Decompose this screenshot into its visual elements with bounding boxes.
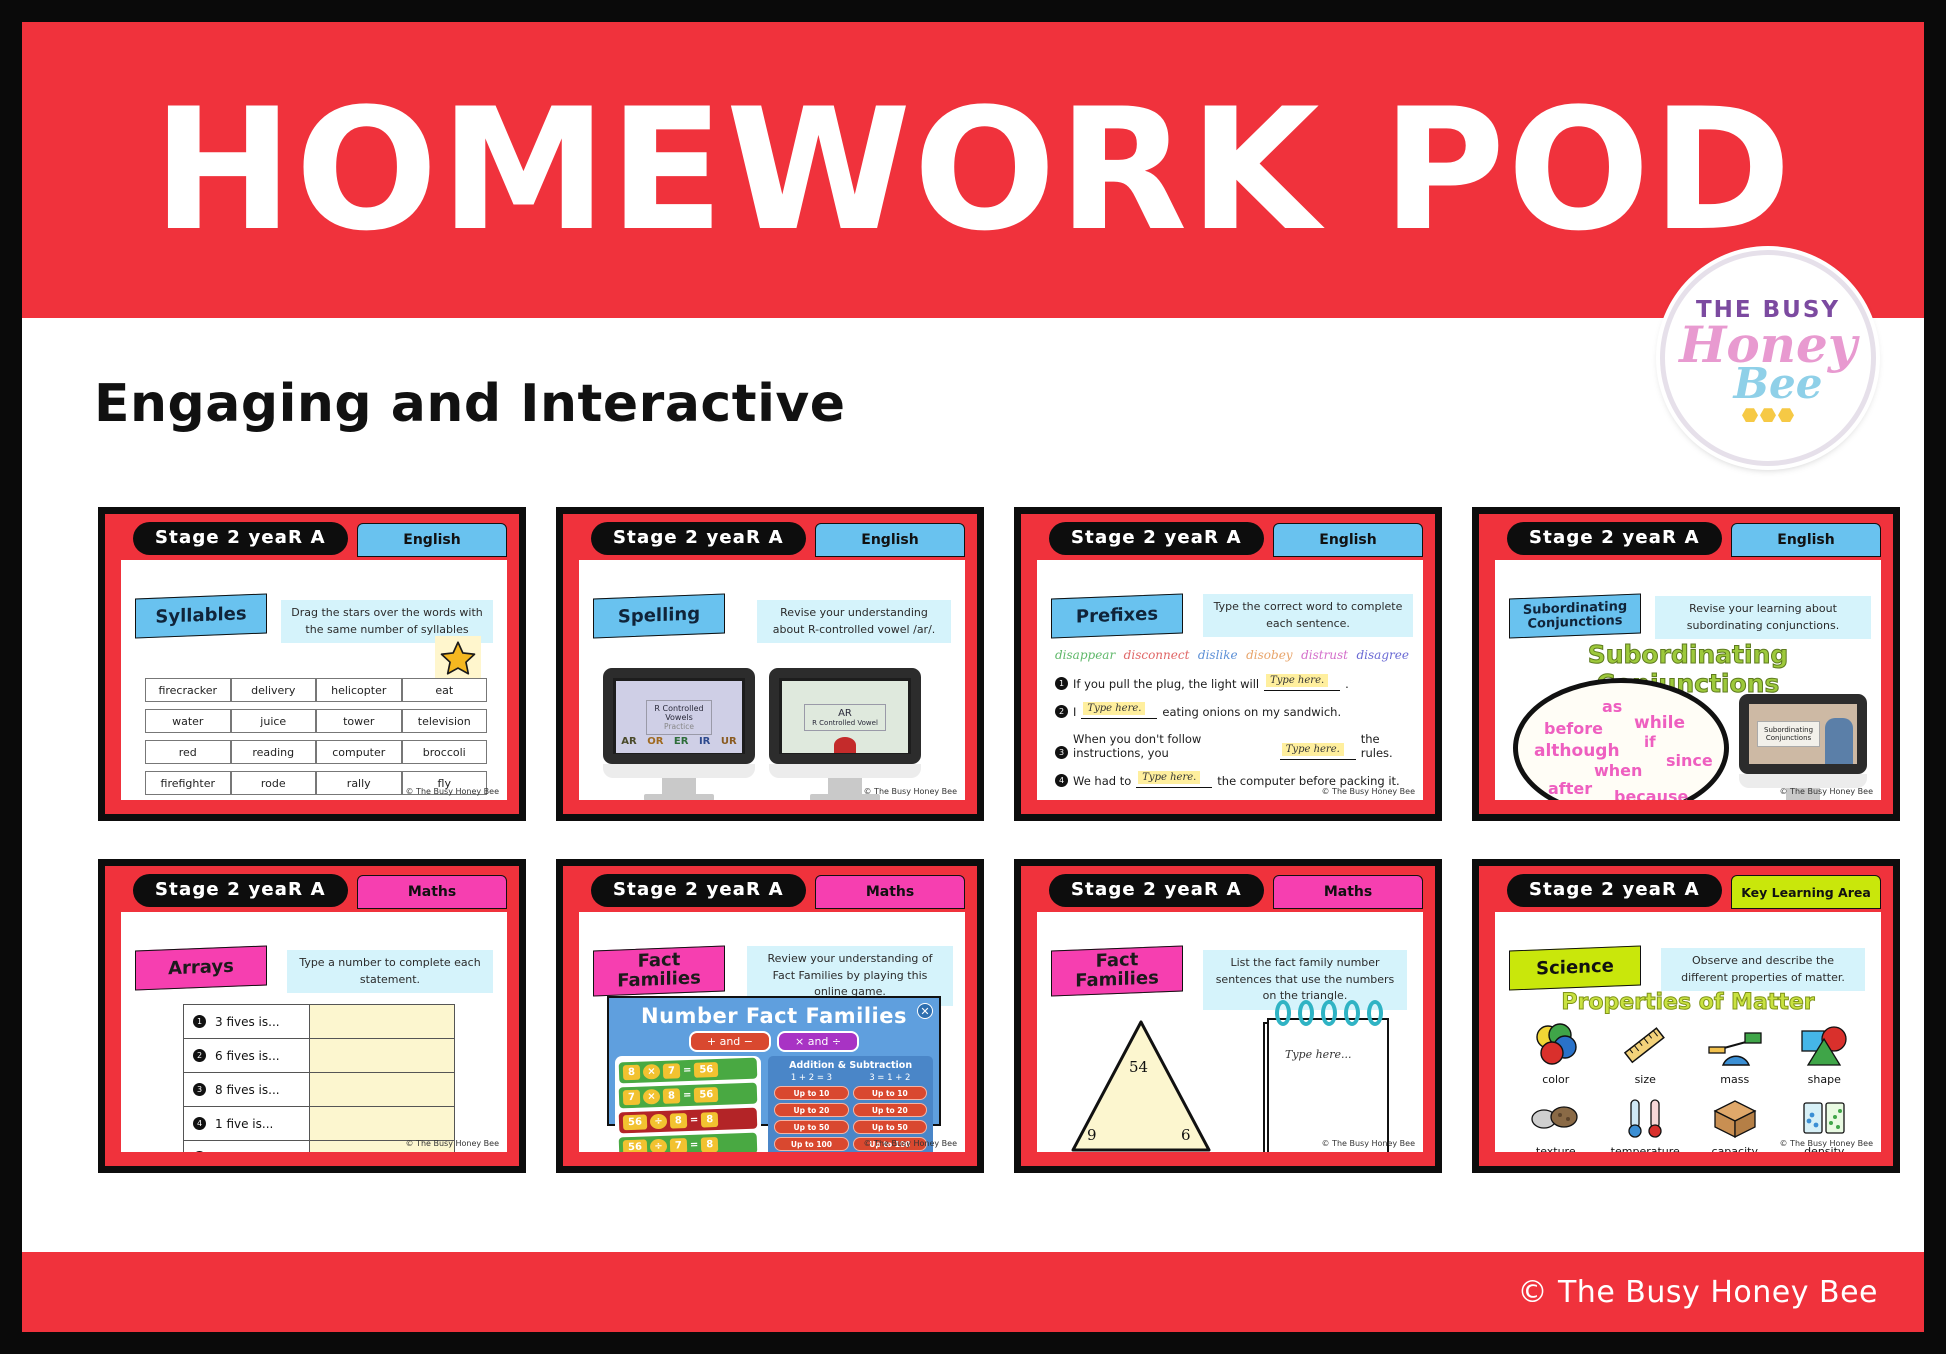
credit-text: © The Busy Honey Bee [864,1139,957,1148]
monitor-neck [603,764,755,778]
statement-cell: 2 6 fives is... [184,1039,310,1072]
table-row: 4 1 five is... [184,1107,454,1141]
video-title-line2: R Controlled Vowel [812,719,878,727]
triangle-left-number: 9 [1087,1126,1097,1144]
conjunction-word: after [1548,779,1592,798]
sentence-row: 4 We had to Type here. the computer befo… [1055,773,1409,788]
equation-operand: 7 [663,1063,681,1079]
sentence-row: 2 I Type here. eating onions on my sandw… [1055,704,1409,719]
texture-rocks-icon [1511,1092,1601,1144]
equals-sign: = [690,1140,699,1151]
credit-text: © The Busy Honey Bee [864,787,957,796]
table-row: 1 3 fives is... [184,1005,454,1039]
type-here-label: Type here. [1083,702,1145,715]
equals-sign: = [683,1065,692,1076]
mode-button-add-subtract[interactable]: + and − [689,1031,771,1052]
range-column-left: 1 + 2 = 3 Up to 10 Up to 20 Up to 50 Up … [772,1071,850,1152]
property-label: color [1511,1073,1601,1086]
range-button[interactable]: Up to 20 [774,1103,848,1117]
statement-text: 10 fives is... [215,1151,287,1152]
instruction-text: Revise your learning about subordinating… [1655,596,1871,639]
sentence-before: When you don't follow instructions, you [1073,732,1275,760]
range-panel: Addition & Subtraction 1 + 2 = 3 Up to 1… [768,1056,933,1152]
word-cell[interactable]: delivery [231,678,317,702]
monitor-stand [828,778,862,794]
sentence-before: We had to [1073,774,1131,788]
equation-operand: 8 [670,1113,688,1129]
kla-tab-english: English [1731,523,1881,557]
brand-logo: THE BUSY Honey Bee [1660,250,1876,466]
conjunction-word: if [1644,733,1656,751]
honeycomb-icon [1741,408,1795,427]
card-body: Syllables Drag the stars over the words … [121,560,507,800]
notepad-spiral-icon [1275,1000,1383,1026]
word-cell[interactable]: helicopter [316,678,402,702]
monitor-neck [769,764,921,778]
video-thumbnail: AR R Controlled Vowel AR (R Controlled V… [779,678,911,754]
instruction-text: Observe and describe the different prope… [1661,948,1865,991]
sentence-after: the computer before packing it. [1217,774,1399,788]
stage-pill: Stage 2 yeaR A [591,874,806,907]
stage-pill: Stage 2 yeaR A [1049,522,1264,555]
online-game-window[interactable]: ✕ Number Fact Families + and − × and ÷ 8… [607,996,941,1126]
property-label: texture [1511,1145,1601,1152]
credit-text: © The Busy Honey Bee [1780,1139,1873,1148]
topic-tag: Spelling [593,593,725,638]
credit-text: © The Busy Honey Bee [406,787,499,796]
video-title-box: R Controlled Vowels Practice [646,700,711,735]
card-grid: Stage 2 yeaR A English Syllables Drag th… [98,507,1898,1173]
monitor-stand [662,778,696,794]
kla-tab-english: English [357,523,507,557]
card-science[interactable]: Stage 2 yeaR A Key Learning Area Science… [1472,859,1900,1173]
video-title-line2: Conjunctions [1764,734,1813,742]
thermometer-icon [1601,1092,1691,1144]
table-row: 2 6 fives is... [184,1039,454,1073]
card-body: Arrays Type a number to complete each st… [121,912,507,1152]
stage-pill: Stage 2 yeaR A [133,522,348,555]
game-title: Number Fact Families [615,1004,933,1028]
video-monitor[interactable]: Subordinating Conjunctions [1739,694,1867,800]
vowel-er: ER [674,736,689,747]
word-cell[interactable]: firecracker [145,678,231,702]
column-heading: 1 + 2 = 3 [772,1073,850,1083]
penguin-icon [834,737,856,753]
property-shape: shape [1780,1020,1870,1086]
video-thumbnail: R Controlled Vowels Practice AR OR ER IR [613,678,745,754]
equation-operand: 7 [670,1138,688,1152]
card-fact-families-game[interactable]: Stage 2 yeaR A Maths Fact Families Revie… [556,859,984,1173]
conjunction-word: although [1534,741,1620,761]
conjunction-word: while [1634,713,1685,733]
kla-tab-english: English [1273,523,1423,557]
equation-row: 8 × 7 = 56 [619,1058,758,1084]
triangle-top-number: 54 [1129,1058,1148,1076]
column-heading: 3 = 1 + 2 [851,1073,929,1083]
answer-input[interactable] [310,1005,454,1038]
equation-row: 56 ÷ 7 = 8 [619,1133,758,1152]
range-button[interactable]: Up to 50 [853,1120,927,1134]
card-prefixes[interactable]: Stage 2 yeaR A English Prefixes Type the… [1014,507,1442,821]
game-mode-buttons: + and − × and ÷ [615,1031,933,1052]
table-row: firecracker delivery helicopter eat [145,678,487,702]
sentence-after: eating onions on my sandwich. [1162,705,1341,719]
type-here-field[interactable]: Type here. [1136,773,1212,788]
conjunction-word: as [1602,697,1622,716]
stage-pill: Stage 2 yeaR A [1507,522,1722,555]
word-bank-item[interactable]: dislike [1198,648,1238,662]
card-arrays[interactable]: Stage 2 yeaR A Maths Arrays Type a numbe… [98,859,526,1173]
topic-tag: Fact Families [1051,945,1183,996]
logo-line-3: Bee [1734,364,1823,404]
equation-panel: 8 × 7 = 56 7 × 8 = 56 [615,1056,761,1152]
properties-grid: color size [1511,1020,1869,1152]
word-cell[interactable]: eat [402,678,488,702]
balance-scale-icon [1690,1020,1780,1072]
equation-operand: 7 [623,1090,641,1106]
range-button[interactable]: Up to 10 [853,1086,927,1100]
word-bank-item[interactable]: distrust [1301,648,1348,662]
footer-banner: © The Busy Honey Bee [22,1252,1924,1332]
vowel-or: OR [647,736,663,747]
equals-sign: = [683,1090,692,1101]
video-thumbnail: Subordinating Conjunctions [1749,704,1857,764]
monitor-screen: Subordinating Conjunctions [1739,694,1867,774]
card-body: Fact Families List the fact family numbe… [1037,912,1423,1152]
range-button[interactable]: Up to 10 [774,1086,848,1100]
equation-operator: × [643,1089,661,1105]
word-cell[interactable]: firefighter [145,771,231,795]
credit-text: © The Busy Honey Bee [1322,1139,1415,1148]
topic-tag: Syllables [135,593,267,638]
credit-text: © The Busy Honey Bee [1780,787,1873,796]
video-title-line1: R Controlled [654,704,703,713]
vowel-ar: AR [621,736,636,747]
stage-pill: Stage 2 yeaR A [1507,874,1722,907]
card-spelling[interactable]: Stage 2 yeaR A English Spelling Revise y… [556,507,984,821]
equation-operator: ÷ [650,1139,668,1152]
vowel-row: AR OR ER IR UR [616,736,742,747]
word-cell[interactable]: broccoli [402,740,488,764]
kla-tab-maths: Maths [1273,875,1423,909]
monitor-screen: AR R Controlled Vowel AR (R Controlled V… [769,668,921,764]
topic-tag: Arrays [135,945,267,990]
equation-result: 8 [701,1112,719,1128]
equation-result: 56 [694,1062,718,1078]
word-bank-item[interactable]: disappear [1055,648,1115,662]
monitor-screen: R Controlled Vowels Practice AR OR ER IR [603,668,755,764]
word-cell[interactable]: rally [316,771,402,795]
topic-tag: Prefixes [1051,593,1183,638]
video-title-line3: Practice [654,722,703,731]
monitor-base [644,794,714,800]
item-number: 3 [1055,746,1068,759]
item-number: 1 [193,1015,206,1028]
property-label: size [1601,1073,1691,1086]
sentence-row: 3 When you don't follow instructions, yo… [1055,732,1409,760]
sentence-after: the rules. [1361,732,1409,760]
subtitle: Engaging and Interactive [94,374,846,434]
word-bank-item[interactable]: disagree [1357,648,1409,662]
statement-text: 6 fives is... [215,1049,280,1063]
equation-operand: 8 [623,1065,641,1081]
credit-text: © The Busy Honey Bee [406,1139,499,1148]
sentence-list: 1 If you pull the plug, the light will T… [1055,676,1409,800]
type-here-field[interactable]: Type here. [1264,676,1340,691]
shapes-icon [1780,1020,1870,1072]
card-body: Science Observe and describe the differe… [1495,912,1881,1152]
statement-cell: 4 1 five is... [184,1107,310,1140]
property-texture: texture [1511,1092,1601,1152]
stage-pill: Stage 2 yeaR A [591,522,806,555]
kla-tab-english: English [815,523,965,557]
equals-sign: = [690,1115,699,1126]
card-body: Subordinating Conjunctions Revise your l… [1495,560,1881,800]
equation-operand: 56 [623,1114,647,1130]
syllables-word-table: firecracker delivery helicopter eat wate… [145,678,487,800]
close-icon[interactable]: ✕ [917,1003,933,1019]
property-temperature: temperature [1601,1092,1691,1152]
answer-input[interactable] [310,1107,454,1140]
property-label: mass [1690,1073,1780,1086]
conjunction-word: before [1544,719,1603,738]
answer-input[interactable] [310,1039,454,1072]
fact-triangle: 54 9 6 [1067,1016,1215,1152]
instruction-text: Revise your understanding about R-contro… [757,600,951,643]
item-number: 4 [193,1117,206,1130]
type-here-field[interactable]: Type here. [1081,704,1157,719]
footer-copyright: © The Busy Honey Bee [1517,1275,1878,1310]
item-number: 3 [193,1083,206,1096]
property-label: temperature [1601,1145,1691,1152]
topic-tag: Science [1509,945,1641,990]
credit-text: © The Busy Honey Bee [1322,787,1415,796]
word-cell[interactable]: water [145,709,231,733]
card-body: Fact Families Review your understanding … [579,912,965,1152]
star-icon[interactable] [435,636,481,680]
card-body: Prefixes Type the correct word to comple… [1037,560,1423,800]
word-cell[interactable]: red [145,740,231,764]
range-button[interactable]: Up to 50 [774,1120,848,1134]
word-bank-item[interactable]: disobey [1246,648,1292,662]
panel-heading: Addition & Subtraction [772,1060,929,1071]
header-banner: HOMEWORK POD [22,22,1924,318]
word-cell[interactable]: reading [231,740,317,764]
teacher-avatar-icon [1825,718,1853,764]
vowel-ir: IR [699,736,710,747]
equation-row: 56 ÷ 8 = 8 [619,1108,758,1134]
equation-operand: 8 [663,1088,681,1104]
equation-operator: ÷ [650,1114,668,1130]
property-capacity: capacity [1690,1092,1780,1152]
kla-tab-maths: Maths [357,875,507,909]
video-title-line1: AR [812,708,878,719]
word-cell[interactable]: computer [316,740,402,764]
stage-pill: Stage 2 yeaR A [1049,874,1264,907]
instruction-text: Type a number to complete each statement… [287,950,493,993]
statement-cell: 1 3 fives is... [184,1005,310,1038]
video-title-line1: Subordinating [1764,726,1813,734]
card-body: Spelling Revise your understanding about… [579,560,965,800]
video-title-box: AR R Controlled Vowel [804,704,886,731]
property-mass: mass [1690,1020,1780,1086]
table-row: 3 8 fives is... [184,1073,454,1107]
item-number: 4 [1055,774,1068,787]
monitor-neck [1739,774,1867,788]
color-circles-icon [1511,1020,1601,1072]
card-heading: Properties of Matter [1495,990,1881,1015]
notepad-placeholder: Type here... [1285,1048,1351,1061]
card-subordinating-conjunctions[interactable]: Stage 2 yeaR A English Subordinating Con… [1472,507,1900,821]
conjunction-word: when [1594,761,1642,780]
property-label: capacity [1690,1145,1780,1152]
word-bank: disappear disconnect dislike disobey dis… [1055,648,1409,662]
word-bank-item[interactable]: disconnect [1124,648,1190,662]
word-cell[interactable]: television [402,709,488,733]
card-syllables[interactable]: Stage 2 yeaR A English Syllables Drag th… [98,507,526,821]
range-button[interactable]: Up to 100 [774,1137,848,1151]
notepad[interactable]: Type here... [1263,1008,1389,1152]
equation-operand: 56 [623,1139,647,1152]
item-number: 2 [193,1049,206,1062]
equation-row: 7 × 8 = 56 [619,1083,758,1109]
box-icon [1690,1092,1780,1144]
property-label: shape [1780,1073,1870,1086]
triangle-right-number: 6 [1181,1126,1191,1144]
word-cell[interactable]: tower [316,709,402,733]
property-size: size [1601,1020,1691,1086]
range-button[interactable]: Up to 20 [853,1103,927,1117]
item-number: 2 [1055,705,1068,718]
poster-page: HOMEWORK POD Engaging and Interactive TH… [0,0,1946,1354]
video-monitor-right[interactable]: AR R Controlled Vowel AR (R Controlled V… [769,668,921,800]
statement-cell: 5 10 fives is... [184,1141,310,1152]
arrays-table: 1 3 fives is... 2 6 fives is... [183,1004,455,1152]
kla-tab-key-learning-area: Key Learning Area [1731,875,1881,909]
type-here-label: Type here. [1138,771,1200,784]
mode-button-multiply-divide[interactable]: × and ÷ [777,1031,859,1052]
sentence-row: 1 If you pull the plug, the light will T… [1055,676,1409,691]
type-here-label: Type here. [1266,674,1328,687]
equation-operator: × [643,1064,661,1080]
game-body: 8 × 7 = 56 7 × 8 = 56 [615,1056,933,1152]
equation-result: 56 [694,1087,718,1103]
conjunction-word: since [1666,751,1713,770]
sentence-after: . [1345,677,1349,691]
topic-tag: Subordinating Conjunctions [1509,593,1641,638]
ruler-icon [1601,1020,1691,1072]
statement-text: 1 five is... [215,1117,273,1131]
sentence-before: If you pull the plug, the light will [1073,677,1259,691]
card-fact-families-triangle[interactable]: Stage 2 yeaR A Maths Fact Families List … [1014,859,1442,1173]
word-cell[interactable]: juice [231,709,317,733]
page-title: HOMEWORK POD [153,86,1794,254]
table-row: water juice tower television [145,709,487,733]
video-title-line2: Vowels [654,713,703,722]
type-here-field[interactable]: Type here. [1280,745,1356,760]
video-monitor-left[interactable]: R Controlled Vowels Practice AR OR ER IR [603,668,755,800]
word-cell[interactable]: rode [231,771,317,795]
conjunction-word: because [1614,787,1688,800]
stage-pill: Stage 2 yeaR A [133,874,348,907]
beakers-icon [1780,1092,1870,1144]
vowel-ur: UR [721,736,737,747]
statement-text: 8 fives is... [215,1083,280,1097]
answer-input[interactable] [310,1073,454,1106]
statement-text: 3 fives is... [215,1015,280,1029]
instruction-text: Type the correct word to complete each s… [1203,594,1413,637]
card-heading: Subordinating Conjunctions [1495,640,1881,698]
type-here-label: Type here. [1282,743,1344,756]
item-number: 5 [193,1151,206,1152]
topic-tag: Fact Families [593,945,725,996]
equation-result: 8 [701,1137,719,1152]
kla-tab-maths: Maths [815,875,965,909]
table-row: red reading computer broccoli [145,740,487,764]
sentence-before: I [1073,705,1076,719]
statement-cell: 3 8 fives is... [184,1073,310,1106]
item-number: 1 [1055,677,1068,690]
notepad-front-page[interactable]: Type here... [1267,1018,1389,1152]
property-color: color [1511,1020,1601,1086]
